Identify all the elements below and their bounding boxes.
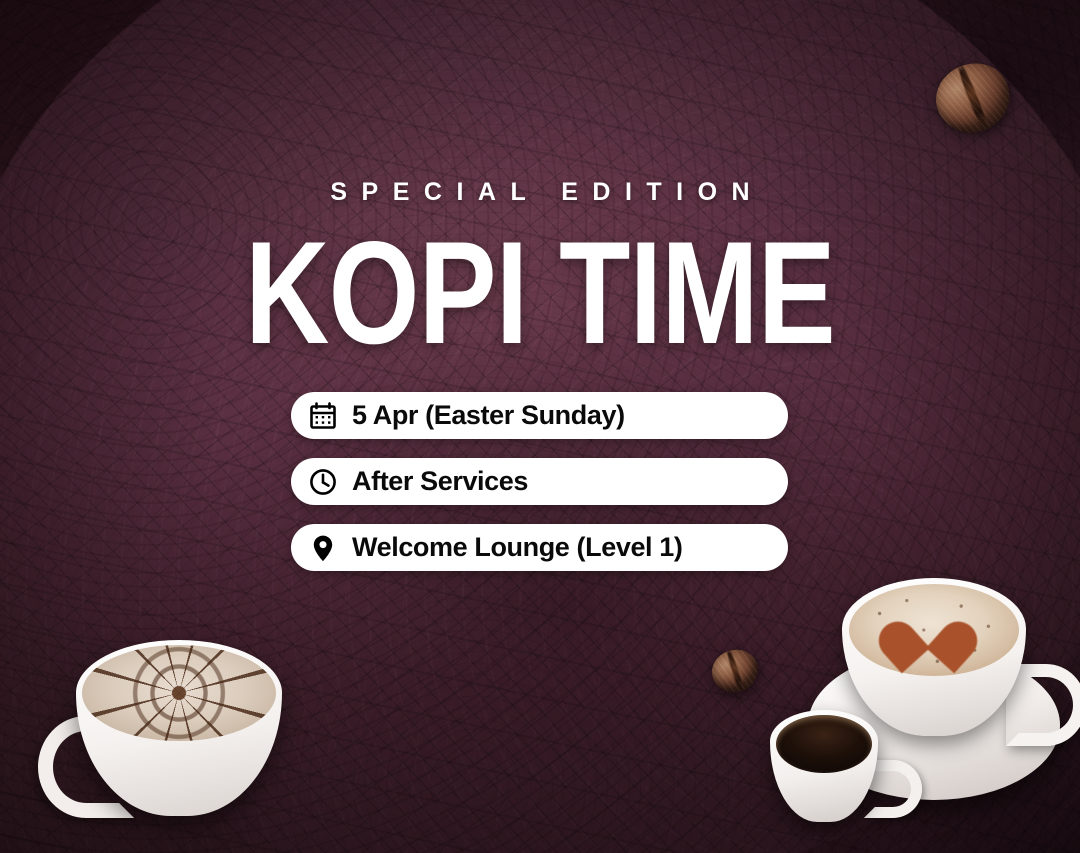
detail-pill-time-label: After Services: [352, 466, 528, 497]
calendar-icon: [308, 401, 338, 431]
cappuccino-cup-group: [760, 578, 1080, 853]
location-pin-icon: [308, 533, 338, 563]
detail-pill-location-label: Welcome Lounge (Level 1): [352, 532, 682, 563]
page-title: KOPI TIME: [108, 219, 972, 367]
espresso-cup: [770, 710, 878, 822]
heart-cocoa-art: [892, 602, 964, 648]
poster-canvas: SPECIAL EDITION KOPI TIME: [0, 0, 1080, 853]
detail-pill-date-label: 5 Apr (Easter Sunday): [352, 400, 625, 431]
event-details-list: 5 Apr (Easter Sunday) After Services: [291, 392, 788, 590]
detail-pill-location[interactable]: Welcome Lounge (Level 1): [291, 524, 788, 571]
detail-pill-time[interactable]: After Services: [291, 458, 788, 505]
detail-pill-date[interactable]: 5 Apr (Easter Sunday): [291, 392, 788, 439]
spiderweb-latte-art: [82, 645, 276, 741]
eyebrow-label: SPECIAL EDITION: [0, 178, 1080, 207]
latte-art-cup: [38, 640, 300, 853]
clock-icon: [308, 467, 338, 497]
black-coffee-surface: [776, 715, 872, 773]
